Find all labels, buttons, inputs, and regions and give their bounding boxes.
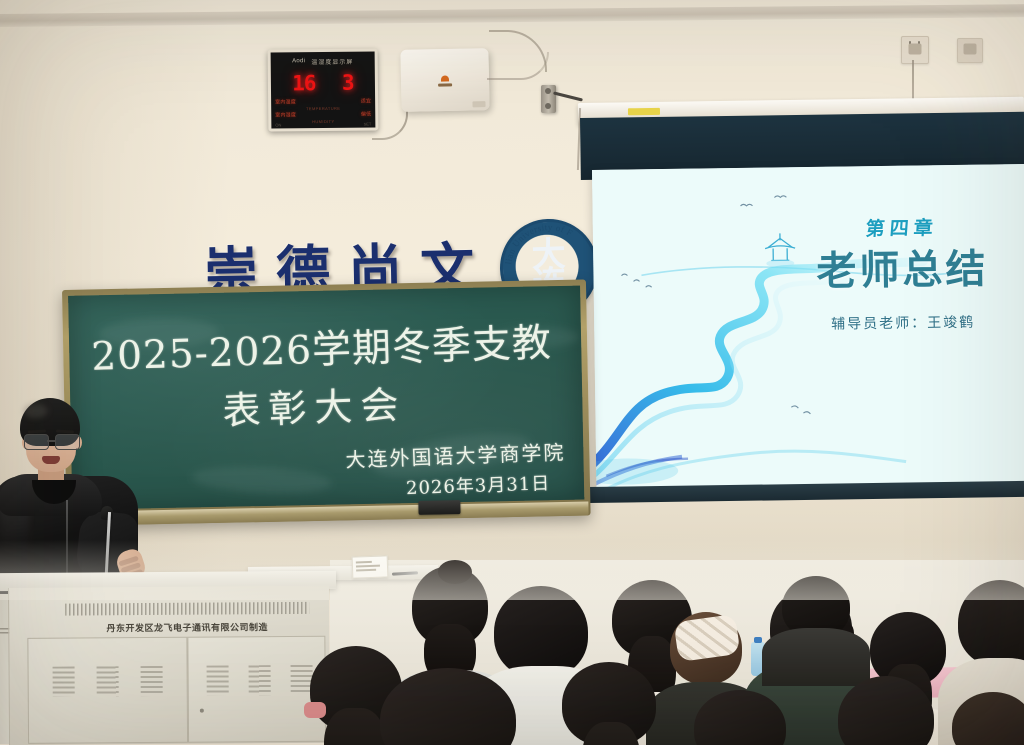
console-manufacturer-text: 丹东开发区龙飞电子通讯有限公司制造 bbox=[67, 620, 307, 635]
wall-mounted-speaker-device bbox=[400, 48, 489, 112]
screen-wall-bracket bbox=[541, 85, 556, 113]
led-title-label: 温湿度显示屏 bbox=[311, 56, 353, 65]
blackboard-organization: 大连外国语大学商学院 bbox=[345, 436, 566, 473]
led-footer: ON SET bbox=[271, 121, 375, 127]
door-grill bbox=[53, 667, 75, 697]
temperature-humidity-display: Aodi 温湿度显示屏 16 3 室内温度 适宜 TEMPERATURE 室内湿… bbox=[268, 48, 379, 131]
projector-screen-surface: 第四章 老师总结 辅导员老师：王竣鹤 bbox=[592, 164, 1024, 490]
equipment-console: 丹东开发区龙飞电子通讯有限公司制造 bbox=[8, 586, 330, 745]
blackboard-title-line2: 表彰大会 bbox=[221, 374, 407, 435]
led-header: Aodi 温湿度显示屏 bbox=[271, 54, 375, 67]
led-row2-label: 室内湿度 bbox=[275, 111, 296, 118]
temperature-readout: 16 bbox=[292, 71, 316, 95]
outlet-plug bbox=[964, 44, 977, 55]
led-detail-rows: 室内温度 适宜 TEMPERATURE 室内湿度 偏低 HUMIDITY bbox=[275, 97, 371, 124]
slide-presenter-line: 辅导员老师：王竣鹤 bbox=[794, 311, 1012, 334]
power-outlet-right[interactable] bbox=[957, 38, 983, 63]
slide-text-block: 第四章 老师总结 辅导员老师：王竣鹤 bbox=[793, 212, 1013, 334]
presenter-glasses bbox=[22, 434, 82, 449]
led-row-humidity: 室内湿度 偏低 bbox=[275, 110, 371, 118]
door-grill bbox=[97, 666, 119, 696]
led-row1-label: 室内温度 bbox=[275, 98, 296, 105]
led-brand-label: Aodi bbox=[292, 58, 305, 64]
led-row-temperature: 室内温度 适宜 bbox=[275, 97, 371, 105]
audience-hair-bun bbox=[438, 560, 472, 584]
device-label bbox=[472, 101, 485, 107]
door-grill bbox=[207, 665, 229, 695]
console-door-left[interactable] bbox=[27, 637, 188, 744]
device-logo-icon bbox=[438, 76, 452, 87]
led-foot-right: SET bbox=[364, 121, 372, 126]
humidity-readout: 3 bbox=[342, 70, 354, 94]
audience-hair bbox=[494, 586, 588, 678]
door-grill bbox=[249, 665, 271, 695]
hair-clip bbox=[304, 702, 326, 718]
classroom-scene: Aodi 温湿度显示屏 16 3 室内温度 适宜 TEMPERATURE 室内湿… bbox=[0, 0, 1024, 745]
led-row2-value: 偏低 bbox=[361, 110, 371, 117]
audience-shoulders bbox=[762, 628, 870, 686]
slide-title: 老师总结 bbox=[793, 247, 1012, 294]
desk-label-card bbox=[352, 555, 389, 578]
led-readouts: 16 3 bbox=[271, 68, 375, 96]
console-door-right[interactable] bbox=[187, 636, 326, 743]
slide-chapter-label: 第四章 bbox=[792, 212, 1012, 242]
blackboard-date: 2026年3月31日 bbox=[405, 469, 550, 500]
outlet-plug bbox=[909, 43, 922, 54]
power-outlet-left[interactable] bbox=[901, 36, 929, 64]
warning-label bbox=[628, 108, 660, 115]
blackboard-eraser[interactable] bbox=[418, 500, 460, 515]
presenter-mouth bbox=[42, 456, 60, 464]
chalk-smudge bbox=[191, 464, 332, 497]
door-grill bbox=[141, 666, 163, 696]
console-vent-slots bbox=[65, 602, 309, 616]
console-indicator-dot bbox=[200, 709, 204, 713]
led-row1-value: 适宜 bbox=[361, 97, 371, 104]
led-foot-left: ON bbox=[275, 122, 281, 127]
